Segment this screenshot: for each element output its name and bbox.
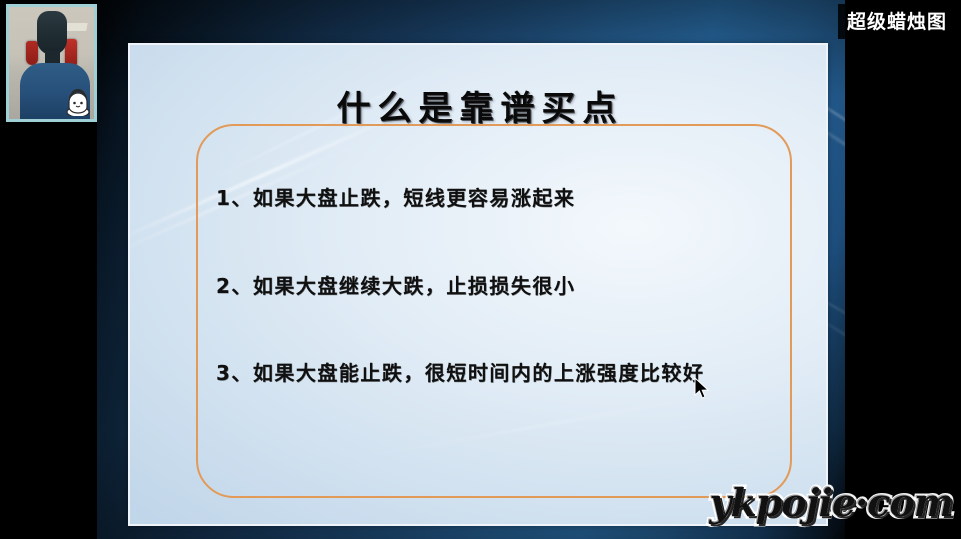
bullet-item-1: 1、如果大盘止跌，短线更容易涨起来 bbox=[216, 182, 575, 211]
cartoon-avatar-icon bbox=[66, 86, 90, 116]
webcam-video-frame bbox=[9, 7, 94, 119]
bullet-item-2: 2、如果大盘继续大跌，止损损失很小 bbox=[216, 270, 575, 299]
slide: 什么是靠谱买点 1、如果大盘止跌，短线更容易涨起来 2、如果大盘继续大跌，止损损… bbox=[128, 43, 828, 526]
site-watermark: ykpojie·com bbox=[709, 480, 953, 525]
webcam-person-head bbox=[37, 11, 67, 55]
screen-root: 什么是靠谱买点 1、如果大盘止跌，短线更容易涨起来 2、如果大盘继续大跌，止损损… bbox=[0, 0, 961, 539]
content-rounded-box bbox=[196, 124, 792, 498]
bullet-item-3: 3、如果大盘能止跌，很短时间内的上涨强度比较好 bbox=[216, 357, 704, 386]
channel-badge: 超级蜡烛图 bbox=[838, 4, 956, 39]
presenter-webcam[interactable] bbox=[6, 4, 97, 122]
slide-title: 什么是靠谱买点 bbox=[130, 81, 828, 130]
webcam-wall-decoration-left bbox=[26, 41, 38, 65]
